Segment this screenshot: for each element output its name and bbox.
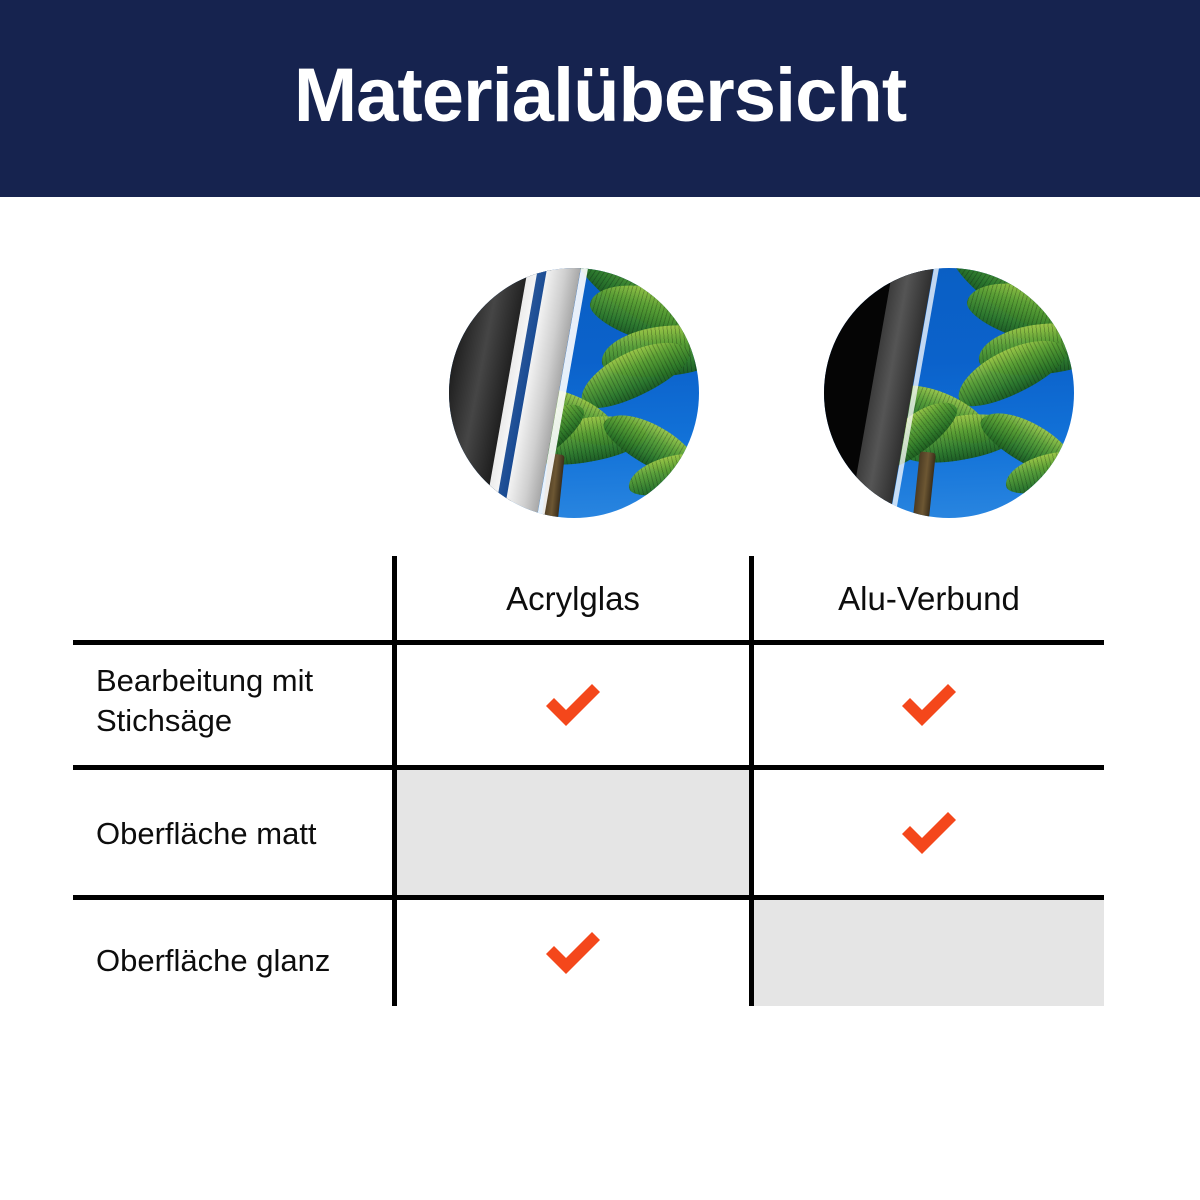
check-icon bbox=[542, 680, 604, 730]
check-icon bbox=[898, 680, 960, 730]
table-column-header-acrylglas: Acrylglas bbox=[397, 568, 749, 630]
table-cell-acrylglas-matt bbox=[397, 770, 749, 895]
material-sample-row bbox=[0, 268, 1200, 520]
palm-photo-acrylglas bbox=[449, 268, 699, 518]
table-row-label-bearbeitung: Bearbeitung mit Stichsäge bbox=[96, 661, 386, 742]
sample-acrylglas bbox=[449, 268, 699, 518]
table-cell-acrylglas-bearbeitung bbox=[397, 645, 749, 765]
table-cell-alu-glanz bbox=[754, 900, 1104, 1006]
palm-photo-alu-verbund bbox=[824, 268, 1074, 518]
page-title: Materialübersicht bbox=[294, 58, 906, 134]
check-icon bbox=[898, 808, 960, 858]
sample-alu-verbund bbox=[824, 268, 1074, 518]
table-column-header-alu-verbund: Alu-Verbund bbox=[754, 568, 1104, 630]
check-icon bbox=[542, 928, 604, 978]
material-overview-page: Materialübersicht bbox=[0, 0, 1200, 1200]
page-header: Materialübersicht bbox=[0, 0, 1200, 197]
table-cell-acrylglas-glanz bbox=[397, 900, 749, 1006]
table-row-label-oberflaeche-matt: Oberfläche matt bbox=[96, 814, 386, 854]
material-comparison-table: Acrylglas Alu-Verbund Bearbeitung mit St… bbox=[73, 556, 1104, 1008]
table-cell-alu-bearbeitung bbox=[754, 645, 1104, 765]
table-cell-alu-matt bbox=[754, 770, 1104, 895]
table-row-label-oberflaeche-glanz: Oberfläche glanz bbox=[96, 941, 386, 981]
